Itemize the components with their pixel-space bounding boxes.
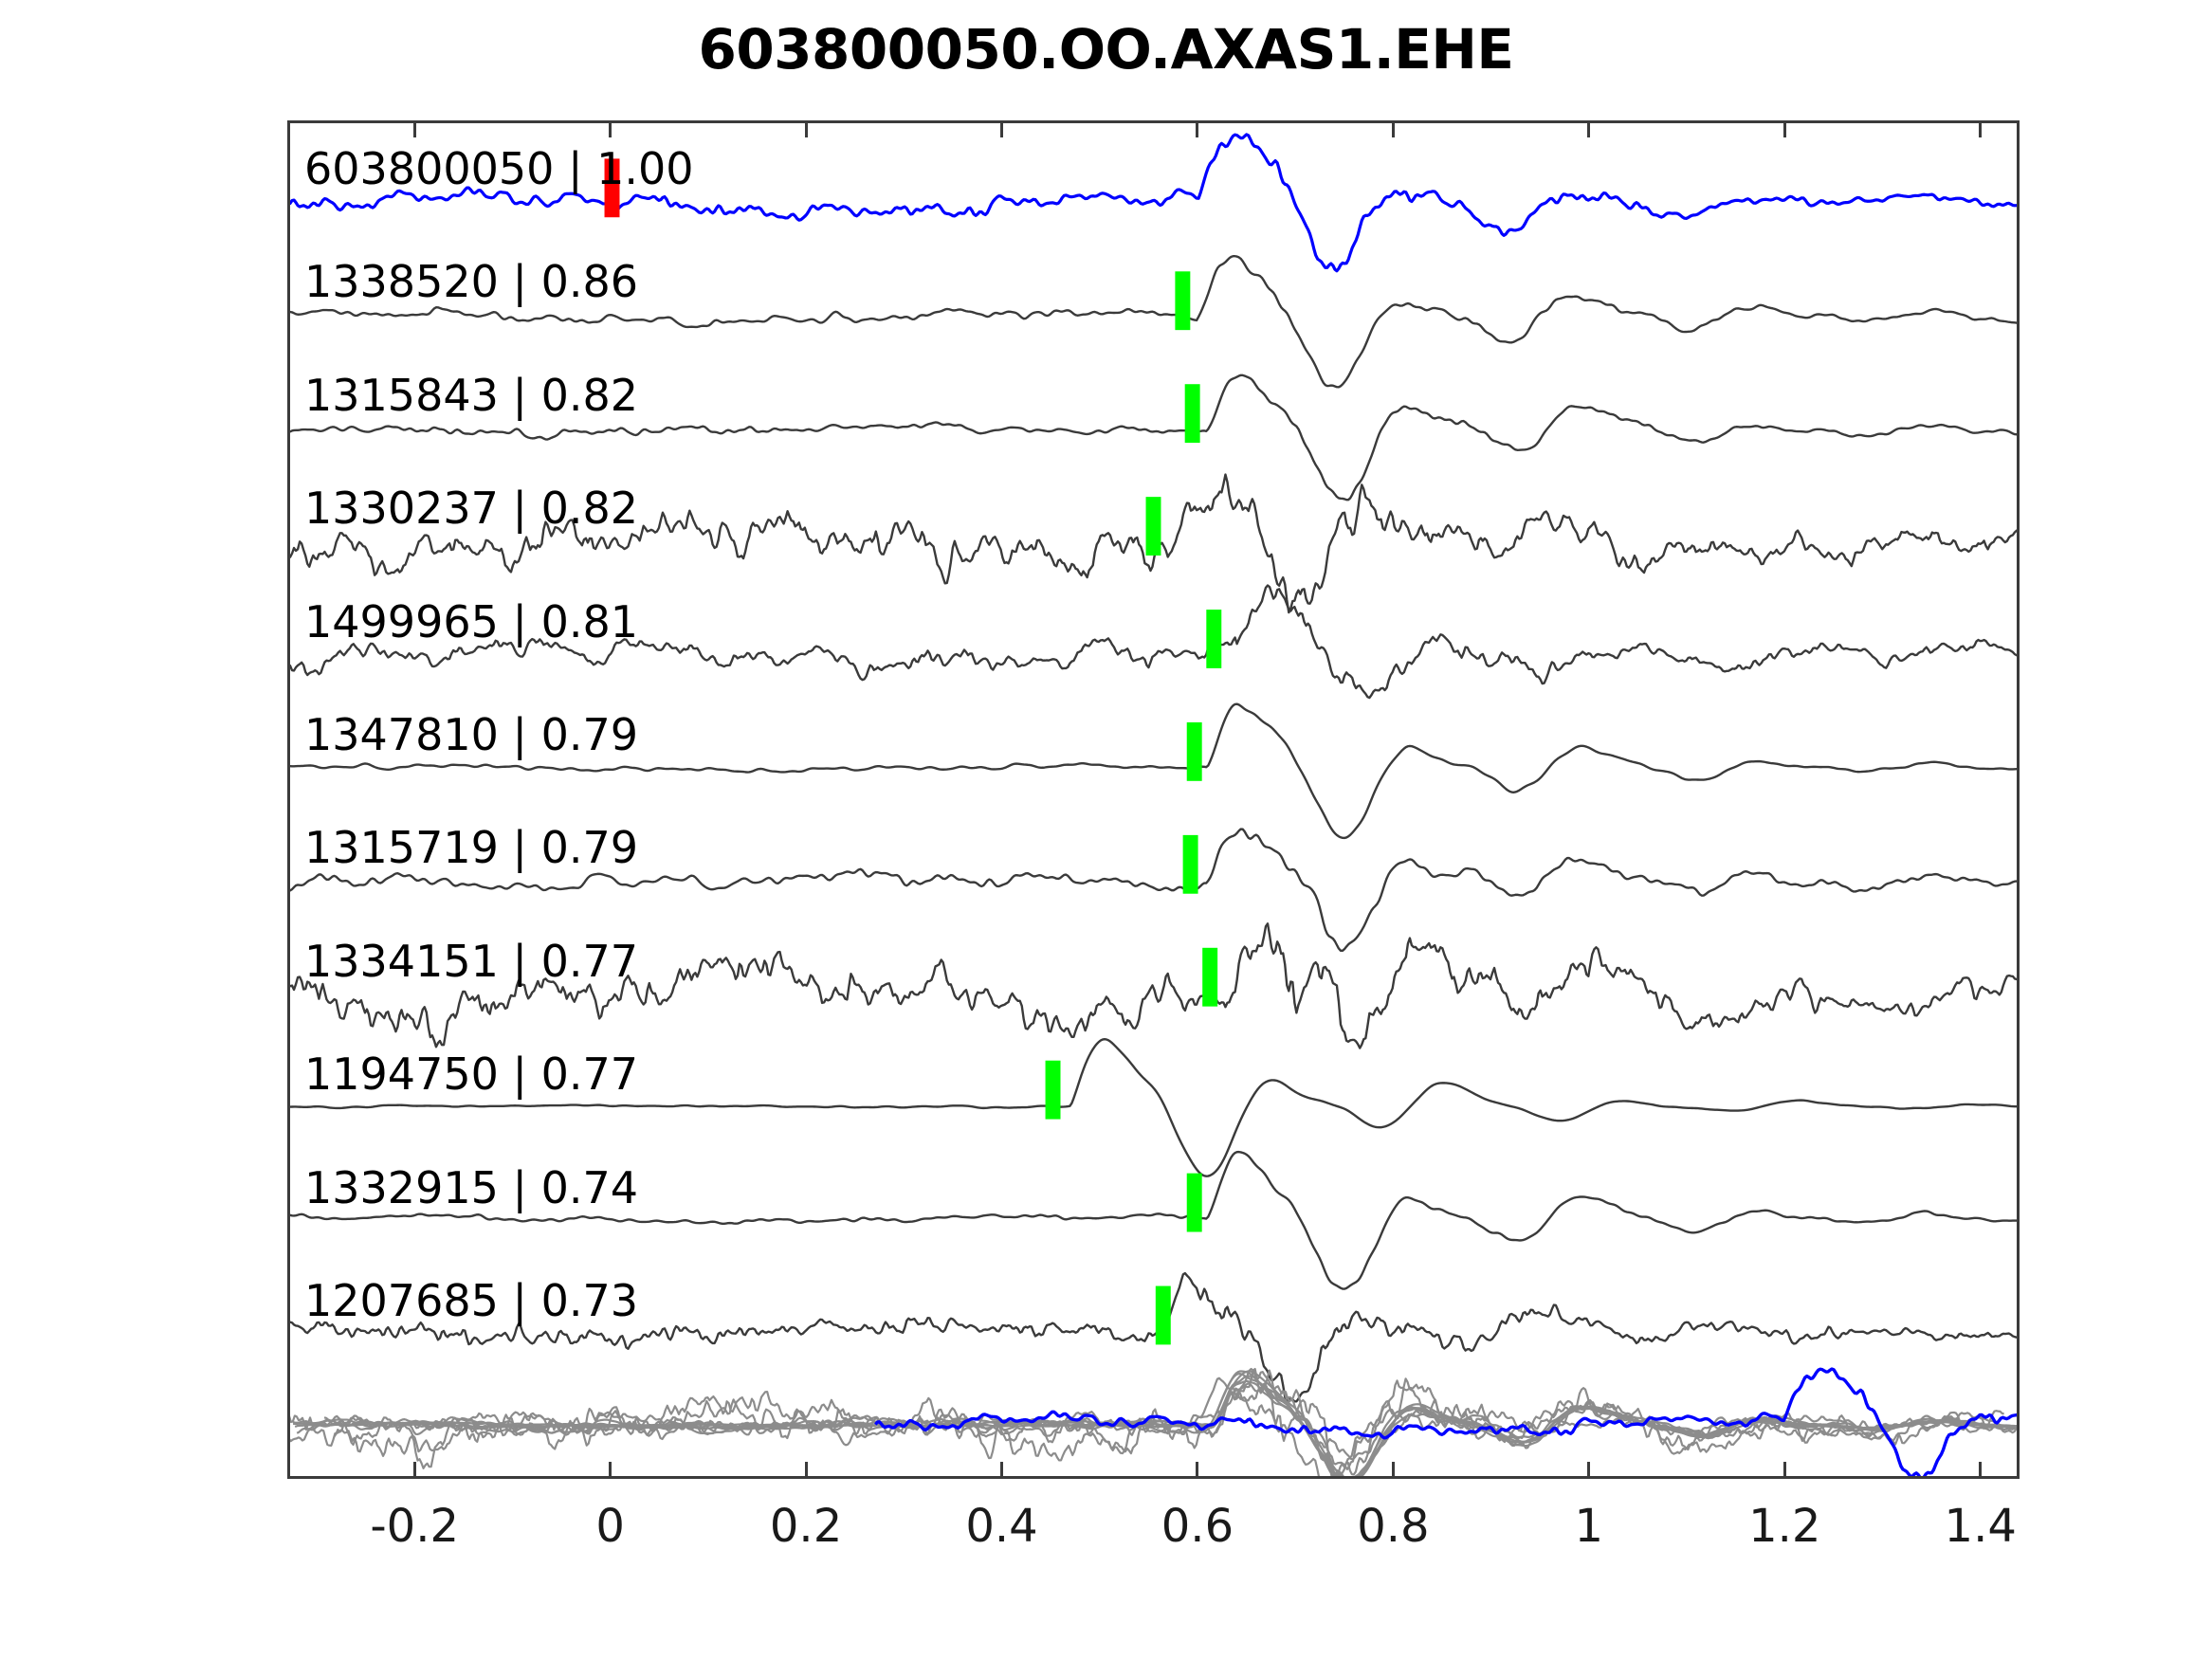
phase-pick-marker-1499965 (1206, 610, 1221, 668)
xtick-label: 0 (595, 1500, 625, 1553)
waveform-canvas (290, 123, 2017, 1476)
xtick-label: 0.2 (770, 1500, 842, 1553)
trace-label-1499965: 1499965 | 0.81 (304, 596, 638, 647)
page-title: 603800050.OO.AXAS1.EHE (0, 17, 2212, 82)
xtick-label: 0.4 (965, 1500, 1037, 1553)
xtick-mark (1392, 1462, 1395, 1479)
phase-pick-marker-1332915 (1187, 1174, 1202, 1232)
xtick-mark-top (413, 120, 416, 137)
trace-label-1315843: 1315843 | 0.82 (304, 370, 638, 421)
xtick-label: 1 (1575, 1500, 1604, 1553)
trace-label-1194750: 1194750 | 0.77 (304, 1048, 638, 1100)
xtick-mark (1196, 1462, 1198, 1479)
phase-pick-marker-1194750 (1046, 1061, 1061, 1120)
xtick-mark (609, 1462, 612, 1479)
phase-pick-marker-1334151 (1202, 948, 1217, 1007)
phase-pick-marker-1207685 (1156, 1286, 1171, 1345)
xtick-mark-top (1392, 120, 1395, 137)
phase-pick-marker-1315719 (1183, 835, 1198, 894)
xtick-mark-top (609, 120, 612, 137)
trace-label-1315719: 1315719 | 0.79 (304, 822, 638, 873)
trace-label-1347810: 1347810 | 0.79 (304, 709, 638, 760)
xtick-mark (413, 1462, 416, 1479)
overlay-trace-1499965 (290, 1369, 2001, 1460)
waveform-figure: 603800050.OO.AXAS1.EHE 603800050 | 1.001… (0, 0, 2212, 1659)
trace-label-603800050: 603800050 | 1.00 (304, 143, 694, 194)
xtick-mark-top (1979, 120, 1982, 137)
trace-label-1207685: 1207685 | 0.73 (304, 1275, 638, 1326)
trace-label-1330237: 1330237 | 0.82 (304, 483, 638, 534)
xtick-mark (805, 1462, 808, 1479)
xtick-label: -0.2 (370, 1500, 459, 1553)
xtick-label: 0.6 (1161, 1500, 1234, 1553)
trace-label-1338520: 1338520 | 0.86 (304, 256, 638, 307)
xtick-mark-top (1783, 120, 1786, 137)
phase-pick-marker-1338520 (1175, 271, 1190, 330)
phase-pick-marker-1315843 (1185, 384, 1200, 443)
xtick-mark-top (1000, 120, 1003, 137)
xtick-mark (1587, 1462, 1590, 1479)
xtick-mark (1000, 1462, 1003, 1479)
xtick-mark-top (805, 120, 808, 137)
xtick-label: 0.8 (1357, 1500, 1429, 1553)
trace-label-1332915: 1332915 | 0.74 (304, 1162, 638, 1213)
xtick-mark (1783, 1462, 1786, 1479)
xtick-mark-top (1587, 120, 1590, 137)
xtick-label: 1.4 (1945, 1500, 2017, 1553)
xtick-mark-top (1196, 120, 1198, 137)
phase-pick-marker-1347810 (1187, 722, 1202, 781)
phase-pick-marker-1330237 (1146, 497, 1161, 556)
xtick-mark (1979, 1462, 1982, 1479)
xtick-label: 1.2 (1748, 1500, 1820, 1553)
trace-label-1334151: 1334151 | 0.77 (304, 936, 638, 987)
